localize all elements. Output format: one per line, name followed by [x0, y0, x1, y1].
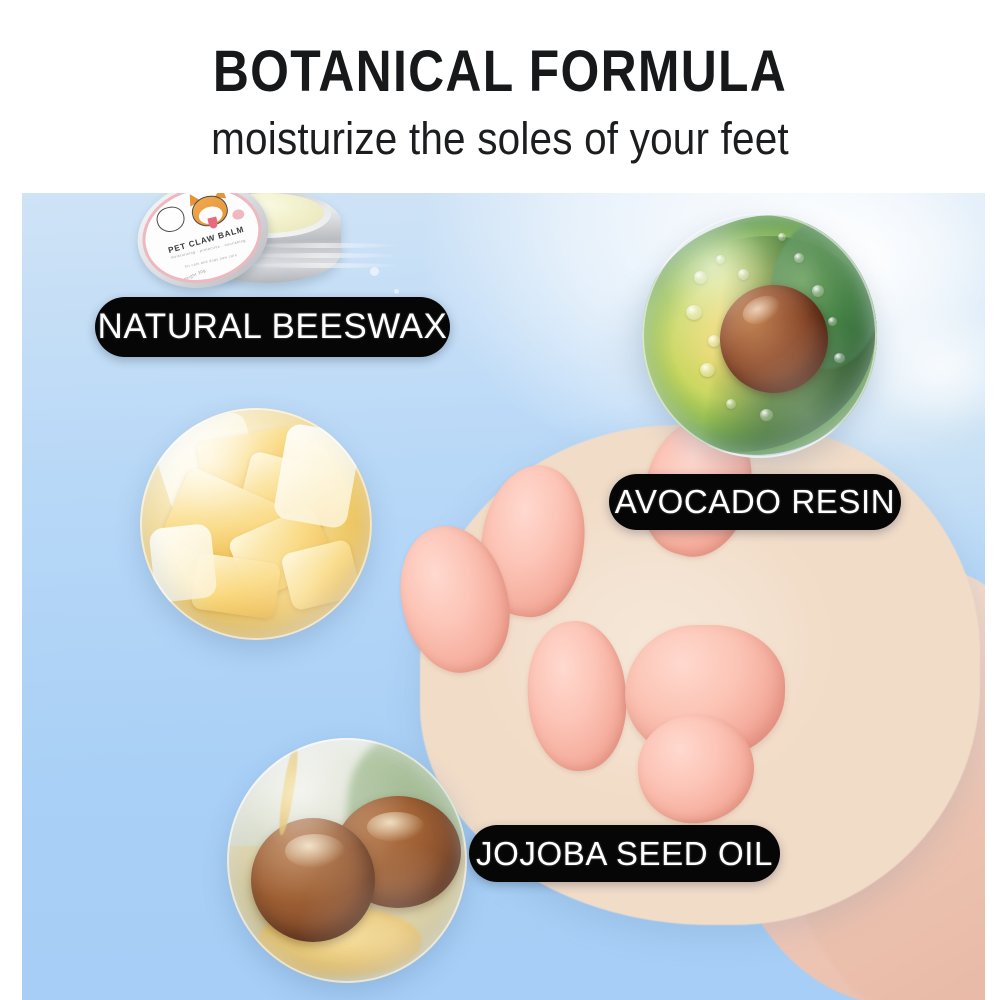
- pet-claw-balm-tin: PET CLAW BALM moisturizing · protective …: [137, 193, 397, 303]
- ingredient-label-text: JOJOBA SEED OIL: [476, 835, 773, 873]
- header: BOTANICAL FORMULA moisturize the soles o…: [0, 0, 1000, 193]
- ingredient-label-text: AVOCADO RESIN: [615, 483, 895, 521]
- avocado-sphere: [642, 213, 877, 458]
- water-droplet: [760, 409, 773, 421]
- page-subtitle: moisturize the soles of your feet: [50, 113, 950, 165]
- ingredient-label-jojoba[interactable]: JOJOBA SEED OIL: [469, 825, 780, 882]
- water-droplet: [700, 363, 715, 377]
- water-droplet: [828, 317, 837, 326]
- poster-root: BOTANICAL FORMULA moisturize the soles o…: [0, 0, 1000, 1000]
- ingredient-label-avocado[interactable]: AVOCADO RESIN: [609, 474, 901, 530]
- water-droplet: [686, 305, 702, 320]
- jojoba-sphere: [227, 738, 467, 983]
- water-droplet: [708, 335, 720, 347]
- water-droplet: [834, 353, 845, 363]
- water-droplet: [738, 269, 749, 280]
- paw-print-icon: [231, 208, 245, 220]
- water-droplet: [716, 255, 725, 264]
- beeswax-chunk: [148, 523, 217, 603]
- beeswax-chunk: [272, 422, 362, 529]
- product-photo: PET CLAW BALM moisturizing · protective …: [22, 193, 985, 1000]
- tin-lid: PET CLAW BALM moisturizing · protective …: [127, 193, 279, 301]
- water-droplet: [726, 399, 736, 409]
- water-droplet: [794, 253, 804, 263]
- water-droplet: [778, 233, 786, 241]
- water-droplet: [694, 271, 707, 284]
- ingredient-label-beeswax[interactable]: NATURAL BEESWAX: [95, 297, 450, 357]
- water-droplet: [812, 285, 824, 297]
- beeswax-sphere: [140, 408, 372, 640]
- page-title: BOTANICAL FORMULA: [70, 38, 930, 105]
- ingredient-label-text: NATURAL BEESWAX: [98, 307, 448, 347]
- jojoba-nut-highlight: [367, 812, 425, 842]
- jojoba-nut-highlight: [285, 834, 345, 868]
